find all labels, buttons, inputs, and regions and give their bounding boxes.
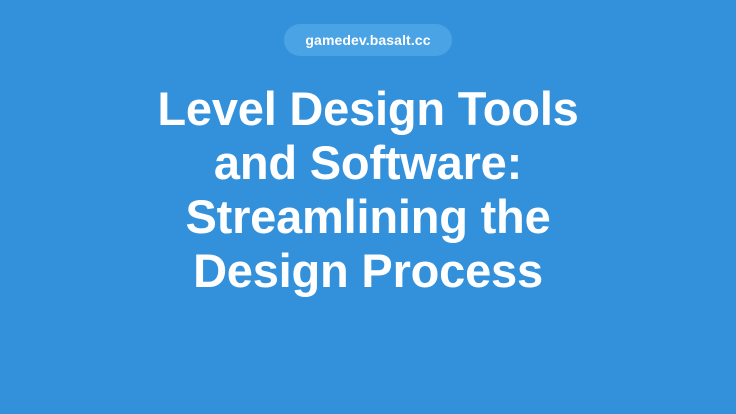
page-title-line-2: and Software: [88, 136, 648, 190]
page-title-line-1: Level Design Tools [88, 82, 648, 136]
page-title-line-4: Design Process [88, 244, 648, 298]
page-title: Level Design Tools and Software: Streaml… [88, 82, 648, 298]
title-block: Level Design Tools and Software: Streaml… [0, 82, 736, 298]
page-title-line-3: Streamlining the [88, 190, 648, 244]
site-badge[interactable]: gamedev.basalt.cc [284, 24, 451, 56]
slide-canvas: gamedev.basalt.cc Level Design Tools and… [0, 0, 736, 414]
badge-row: gamedev.basalt.cc [0, 24, 736, 56]
